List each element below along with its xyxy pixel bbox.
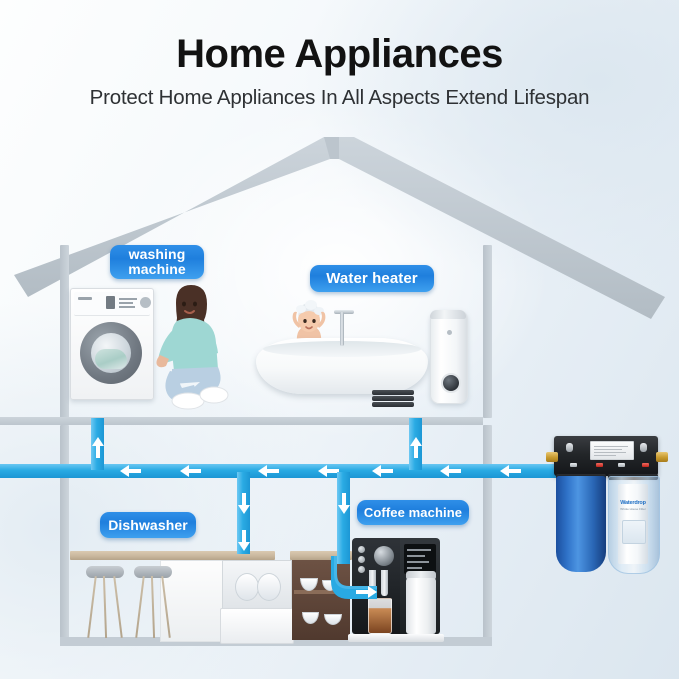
wall-post-left <box>60 245 69 418</box>
laundry-inside <box>95 349 127 369</box>
filter-outlet-port <box>656 452 668 462</box>
coffee-nozzle <box>381 570 388 596</box>
flow-arrow-up <box>92 437 104 446</box>
filter-inlet-port <box>546 452 558 462</box>
coffee-machine-display <box>404 544 436 574</box>
whole-house-water-filter: Waterdrop Whole House Filter <box>546 436 668 579</box>
flow-arrow-up <box>410 437 422 446</box>
pipe-to-coffee-machine <box>337 472 350 564</box>
label-water-heater-text: Water heater <box>326 270 418 287</box>
flow-arrow-down <box>238 542 250 551</box>
cartridge-spec-icons <box>622 520 646 544</box>
coffee-machine-button[interactable] <box>358 546 365 553</box>
bathtub <box>256 338 428 394</box>
plate <box>235 573 259 601</box>
folded-towels <box>372 390 414 406</box>
infographic-canvas: Home Appliances Protect Home Appliances … <box>0 0 679 679</box>
wall-post-right-upper <box>483 245 492 418</box>
flow-arrow-right <box>368 586 377 598</box>
water-heater-indicator <box>447 330 452 335</box>
label-coffee-machine-text: Coffee machine <box>364 505 462 520</box>
filter-mounting-bracket <box>554 436 658 476</box>
filter-valve-red[interactable] <box>640 461 651 469</box>
flow-arrow-down <box>238 505 250 514</box>
flow-arrow-left <box>372 465 381 477</box>
flow-arrow-left <box>318 465 327 477</box>
label-washing-machine[interactable]: washing machine <box>110 245 204 279</box>
flow-arrow-left <box>120 465 129 477</box>
flow-arrow-down <box>338 505 350 514</box>
cartridge-brand-text: Waterdrop <box>618 500 648 506</box>
coffee-machine-base <box>348 634 444 642</box>
filter-valve-silver[interactable] <box>568 461 579 469</box>
wall-post-left-lower <box>60 425 69 640</box>
filter-housing-blue <box>556 476 606 572</box>
washing-machine-door <box>80 322 142 384</box>
dishwasher <box>222 560 290 642</box>
washing-machine-panel <box>74 292 150 316</box>
coffee-machine-knob[interactable] <box>374 546 394 566</box>
water-heater-cap <box>430 310 466 319</box>
washing-machine <box>70 288 154 400</box>
filter-valve-silver[interactable] <box>616 461 627 469</box>
plate <box>257 573 281 601</box>
dishwasher-door <box>220 608 294 644</box>
filter-valve-red[interactable] <box>594 461 605 469</box>
bracket-screw <box>640 443 647 452</box>
faucet-spout <box>334 310 354 314</box>
header: Home Appliances Protect Home Appliances … <box>0 0 679 110</box>
milk-container <box>406 578 436 634</box>
label-washing-machine-line1: washing <box>129 247 186 262</box>
person-woman <box>146 283 242 411</box>
latte-glass <box>368 598 392 634</box>
filter-housing-clear: Waterdrop Whole House Filter <box>608 476 660 574</box>
page-subtitle: Protect Home Appliances In All Aspects E… <box>0 86 679 110</box>
label-coffee-machine[interactable]: Coffee machine <box>357 500 469 525</box>
cartridge-sub-text: Whole House Filter <box>618 507 648 511</box>
washing-machine-window <box>91 333 131 373</box>
bar-stool-2 <box>134 566 172 638</box>
dishwasher-rack <box>222 560 292 610</box>
stool-seat <box>86 566 124 578</box>
label-washing-machine-line2: machine <box>128 262 186 277</box>
flow-arrow-left <box>180 465 189 477</box>
stool-seat <box>134 566 172 578</box>
water-heater-tank <box>430 310 468 404</box>
label-water-heater[interactable]: Water heater <box>310 265 434 292</box>
label-dishwasher[interactable]: Dishwasher <box>100 512 196 538</box>
filter-label-plate <box>590 441 634 460</box>
filter-cartridge: Waterdrop Whole House Filter <box>618 484 648 564</box>
faucet <box>340 312 344 346</box>
water-heater-dial <box>441 373 461 393</box>
wall-post-right-lower <box>483 425 492 640</box>
bar-stool-1 <box>86 566 124 638</box>
flow-arrow-left <box>500 465 509 477</box>
flow-arrow-left <box>258 465 267 477</box>
page-title: Home Appliances <box>0 31 679 77</box>
bracket-screw <box>566 443 573 452</box>
flow-arrow-left <box>440 465 449 477</box>
label-dishwasher-text: Dishwasher <box>108 517 188 533</box>
